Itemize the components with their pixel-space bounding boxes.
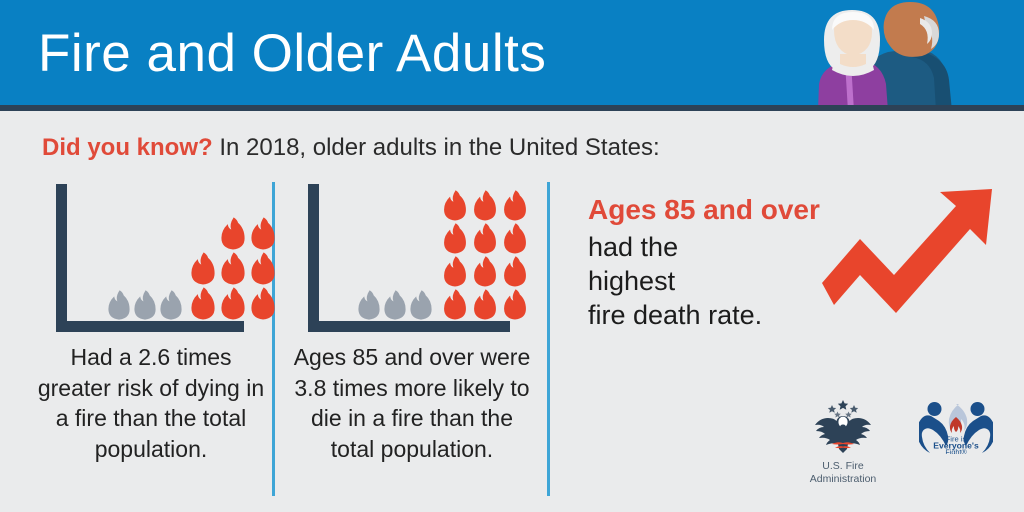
flame-icon-gray (132, 289, 158, 321)
flame-row (440, 288, 530, 321)
two-figures-flame-icon: Fire is Everyone's Fight® (919, 396, 993, 454)
flame-icon-red (440, 288, 470, 321)
chart-1-y-axis (56, 184, 67, 328)
page-title: Fire and Older Adults (38, 22, 546, 86)
flame-row (188, 216, 278, 251)
panel-2-caption: Ages 85 and over were 3.8 times more lik… (288, 334, 536, 464)
panel-divider-2 (547, 182, 550, 496)
logo-row: U.S. Fire Administration Fire is Everyon… (778, 396, 1018, 496)
page-header: Fire and Older Adults (0, 0, 1024, 111)
panel-ages-85-over: Ages 85 and over were 3.8 times more lik… (288, 182, 536, 464)
flame-icon-red (188, 251, 218, 286)
intro-text: In 2018, older adults in the United Stat… (219, 134, 659, 161)
flame-icon-red (218, 251, 248, 286)
pictograph-chart-1 (36, 182, 266, 334)
flame-icon-gray (382, 289, 408, 321)
flame-icon-red (218, 216, 248, 251)
did-you-know-line: Did you know? In 2018, older adults in t… (42, 133, 660, 163)
flame-icon-red (218, 286, 248, 321)
flame-icon-red (440, 255, 470, 288)
eagle-seal-icon (808, 396, 878, 454)
flame-row (440, 222, 530, 255)
upward-trend-arrow-icon (816, 187, 1006, 322)
flame-icon-red (470, 288, 500, 321)
feif-caption-line-3: Fight® (945, 448, 967, 455)
flame-icon-red (248, 286, 278, 321)
chart-1-highlight-flames (188, 216, 278, 321)
pictograph-chart-2 (288, 182, 536, 334)
did-you-know-label: Did you know? (42, 134, 213, 161)
panel-older-adults: Had a 2.6 times greater risk of dying in… (36, 182, 266, 464)
older-couple-illustration (796, 0, 966, 111)
flame-icon-red (248, 216, 278, 251)
flame-icon-red (248, 251, 278, 286)
flame-icon-red (500, 255, 530, 288)
flame-row (188, 251, 278, 286)
chart-2-y-axis (308, 184, 319, 328)
flame-icon-red (500, 222, 530, 255)
flame-row (440, 189, 530, 222)
chart-1-x-axis (56, 321, 244, 332)
flame-icon-red (500, 288, 530, 321)
usfa-caption-line-1: U.S. Fire (788, 460, 898, 473)
chart-1-baseline-flames (106, 289, 184, 321)
fire-is-everyones-fight-logo: Fire is Everyone's Fight® (906, 396, 1006, 459)
usfa-logo: U.S. Fire Administration (788, 396, 898, 485)
flame-icon-gray (356, 289, 382, 321)
callout-ages-85-highest-rate: Ages 85 and over had the highest fire de… (588, 192, 988, 372)
chart-2-x-axis (308, 321, 510, 332)
usfa-logo-caption: U.S. Fire Administration (788, 460, 898, 485)
flame-icon-red (188, 286, 218, 321)
flame-icon-red (440, 222, 470, 255)
usfa-caption-line-2: Administration (788, 473, 898, 486)
flame-icon-gray (408, 289, 434, 321)
flame-icon-gray (106, 289, 132, 321)
flame-row (188, 286, 278, 321)
flame-icon-red (500, 189, 530, 222)
flame-row (440, 255, 530, 288)
panel-1-caption: Had a 2.6 times greater risk of dying in… (36, 334, 266, 464)
flame-icon-red (470, 222, 500, 255)
flame-icon-red (470, 189, 500, 222)
chart-2-baseline-flames (356, 289, 434, 321)
flame-icon-gray (158, 289, 184, 321)
flame-icon-red (470, 255, 500, 288)
flame-icon-red (440, 189, 470, 222)
chart-2-highlight-flames (440, 189, 530, 321)
